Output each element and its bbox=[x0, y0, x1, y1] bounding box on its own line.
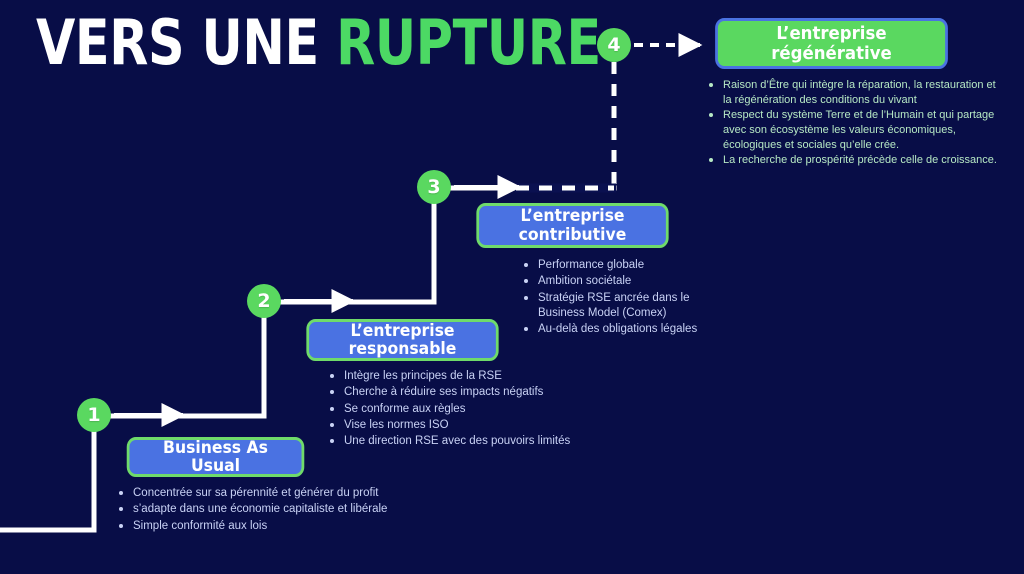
bullets-entreprise-regenerative: Raison d’Être qui intègre la réparation,… bbox=[706, 78, 1001, 169]
list-item: Se conforme aux règles bbox=[327, 402, 627, 417]
list-item: Une direction RSE avec des pouvoirs limi… bbox=[327, 434, 627, 449]
list-item: La recherche de prospérité précède celle… bbox=[706, 153, 1001, 168]
list-item: Cherche à réduire ses impacts négatifs bbox=[327, 385, 627, 400]
bullets-business-as-usual: Concentrée sur sa pérennité et générer d… bbox=[116, 486, 446, 535]
list-item: Respect du système Terre et de l’Humain … bbox=[706, 108, 1001, 152]
list-item: Intègre les principes de la RSE bbox=[327, 369, 627, 384]
step-number-3[interactable]: 3 bbox=[417, 170, 451, 204]
list-item: Simple conformité aux lois bbox=[116, 519, 446, 534]
page-title: VERS UNE RUPTURE bbox=[36, 12, 601, 74]
step-number-1[interactable]: 1 bbox=[77, 398, 111, 432]
stage-box-entreprise-regenerative[interactable]: L’entreprise régénérative bbox=[715, 18, 948, 69]
list-item: Concentrée sur sa pérennité et générer d… bbox=[116, 486, 446, 501]
stage-box-entreprise-contributive[interactable]: L’entreprise contributive bbox=[476, 203, 668, 248]
title-green-part: RUPTURE bbox=[336, 6, 601, 79]
bullets-entreprise-contributive: Performance globaleAmbition sociétaleStr… bbox=[521, 258, 721, 338]
list-item: s’adapte dans une économie capitaliste e… bbox=[116, 502, 446, 517]
list-item: Raison d’Être qui intègre la réparation,… bbox=[706, 78, 1001, 107]
list-item: Stratégie RSE ancrée dans le Business Mo… bbox=[521, 291, 721, 322]
stage-box-business-as-usual[interactable]: Business As Usual bbox=[127, 437, 305, 477]
step-number-2[interactable]: 2 bbox=[247, 284, 281, 318]
list-item: Vise les normes ISO bbox=[327, 418, 627, 433]
list-item: Ambition sociétale bbox=[521, 274, 721, 289]
slide-canvas: VERS UNE RUPTURE 1 2 3 4 Business As Usu… bbox=[0, 0, 1024, 574]
list-item: Au-delà des obligations légales bbox=[521, 322, 721, 337]
list-item: Performance globale bbox=[521, 258, 721, 273]
stage-box-entreprise-responsable[interactable]: L’entreprise responsable bbox=[306, 319, 498, 361]
bullets-entreprise-responsable: Intègre les principes de la RSECherche à… bbox=[327, 369, 627, 450]
step-number-4[interactable]: 4 bbox=[597, 28, 631, 62]
title-white-part: VERS UNE bbox=[36, 6, 336, 79]
